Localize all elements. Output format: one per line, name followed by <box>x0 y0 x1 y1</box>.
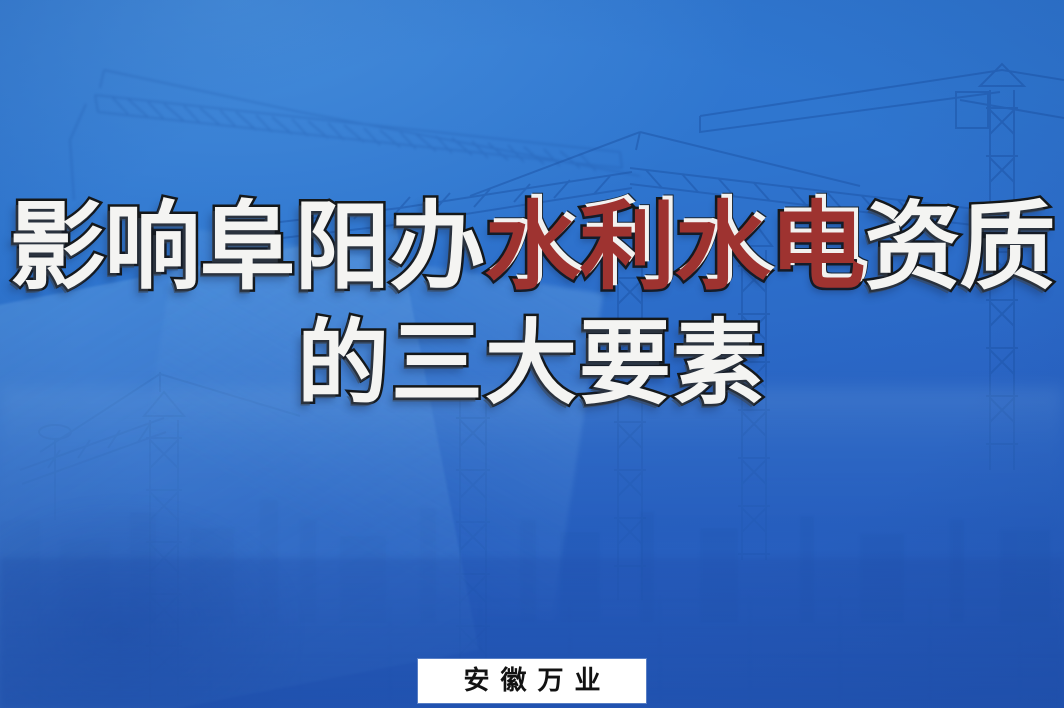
headline-line-2: 的三大要素 <box>0 314 1064 414</box>
brand-badge: 安徽万业 <box>418 659 646 703</box>
poster-canvas: 影响阜阳办水利水电资质 的三大要素 安徽万业 <box>0 0 1064 708</box>
headline-line-1: 影响阜阳办水利水电资质 <box>0 196 1064 300</box>
headline-line-2-part-1: 的三大要素 <box>297 310 767 417</box>
headline-line-1-part-1: 影响阜阳办 <box>10 191 485 303</box>
headline: 影响阜阳办水利水电资质 的三大要素 <box>0 196 1064 414</box>
brand-badge-label: 安徽万业 <box>452 668 611 694</box>
headline-line-1-highlight: 水利水电 <box>485 191 865 303</box>
headline-line-1-part-3: 资质 <box>865 191 1055 303</box>
